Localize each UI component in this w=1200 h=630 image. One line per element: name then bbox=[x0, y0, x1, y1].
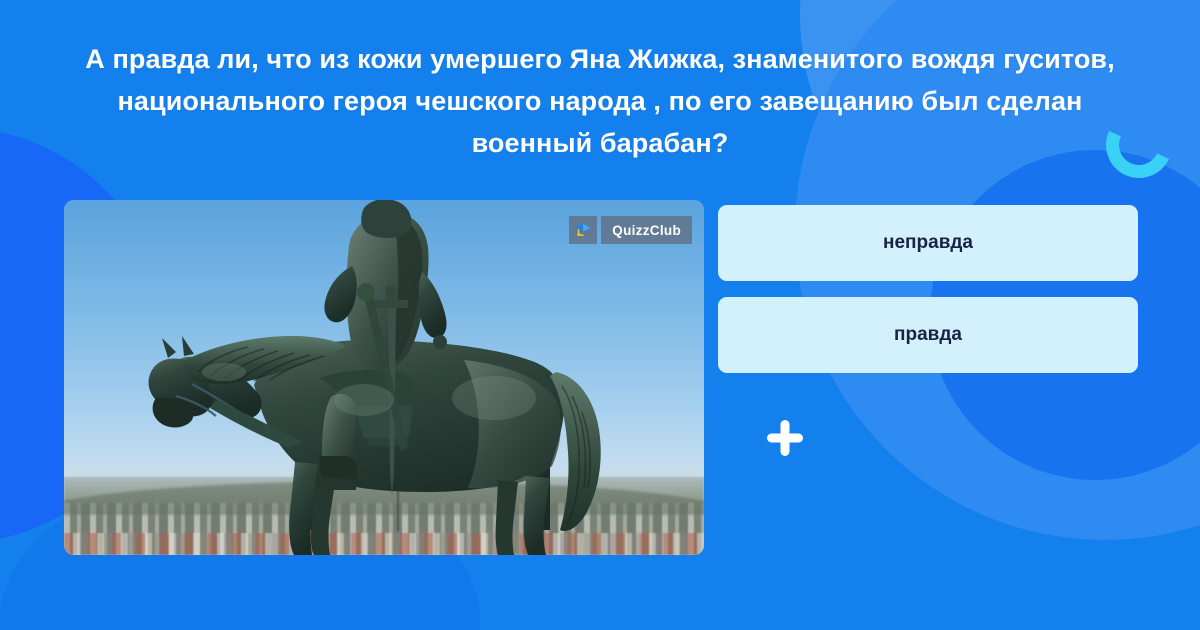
question-text: А правда ли, что из кожи умершего Яна Жи… bbox=[60, 38, 1140, 164]
quizzclub-badge-label: QuizzClub bbox=[601, 216, 692, 244]
quizzclub-badge[interactable]: QuizzClub bbox=[569, 216, 692, 244]
plus-icon bbox=[764, 417, 806, 459]
quiz-card: А правда ли, что из кожи умершего Яна Жи… bbox=[0, 0, 1200, 630]
add-button[interactable] bbox=[764, 417, 806, 459]
graduation-cap-icon bbox=[569, 216, 597, 244]
answer-option-1[interactable]: правда bbox=[718, 297, 1138, 373]
equestrian-statue-graphic bbox=[64, 200, 704, 555]
answer-option-0[interactable]: неправда bbox=[718, 205, 1138, 281]
answer-options: неправда правда bbox=[718, 205, 1138, 373]
question-image: QuizzClub bbox=[64, 200, 704, 555]
